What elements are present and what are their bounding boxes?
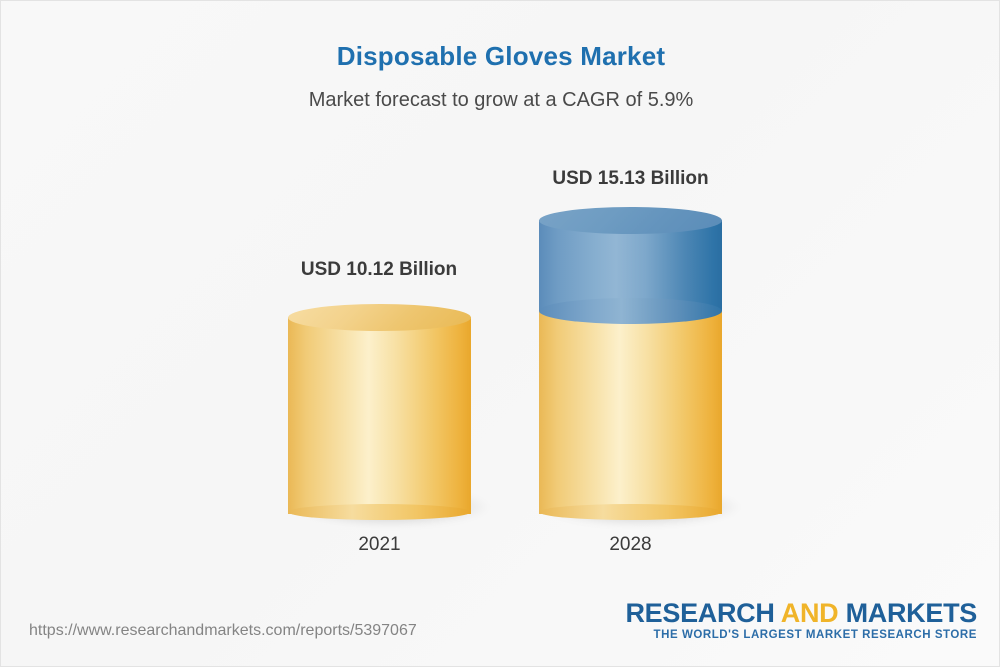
brand-logo-markets: MARKETS bbox=[838, 598, 977, 628]
bar-bottom-2028 bbox=[539, 504, 722, 520]
brand-logo-and: AND bbox=[781, 598, 839, 628]
bar-body-lower-2028 bbox=[539, 311, 722, 514]
bar-category-label-2021: 2021 bbox=[288, 534, 471, 556]
bar-value-label-2028: USD 15.13 Billion bbox=[528, 168, 733, 190]
chart-plot-area: USD 10.12 Billion 2021 USD 15.13 Billion bbox=[1, 1, 1000, 601]
bar-body-2021 bbox=[288, 317, 471, 514]
brand-logo-research: RESEARCH bbox=[625, 598, 780, 628]
bar-top-cap-2021 bbox=[288, 304, 471, 331]
brand-logo-tagline: THE WORLD'S LARGEST MARKET RESEARCH STOR… bbox=[625, 629, 977, 643]
brand-logo[interactable]: RESEARCH AND MARKETS THE WORLD'S LARGEST… bbox=[625, 599, 977, 643]
bar-category-label-2028: 2028 bbox=[539, 534, 722, 556]
bar-value-label-2021: USD 10.12 Billion bbox=[279, 259, 479, 281]
bar-cylinder-2028 bbox=[539, 207, 722, 514]
brand-logo-wordmark: RESEARCH AND MARKETS bbox=[625, 599, 977, 627]
bar-cylinder-2021 bbox=[288, 304, 471, 514]
source-url-link[interactable]: https://www.researchandmarkets.com/repor… bbox=[29, 622, 417, 640]
chart-canvas: Disposable Gloves Market Market forecast… bbox=[0, 0, 1000, 667]
bar-bottom-2021 bbox=[288, 504, 471, 520]
bar-segment-joint-2028 bbox=[539, 298, 722, 324]
bar-top-cap-2028 bbox=[539, 207, 722, 234]
